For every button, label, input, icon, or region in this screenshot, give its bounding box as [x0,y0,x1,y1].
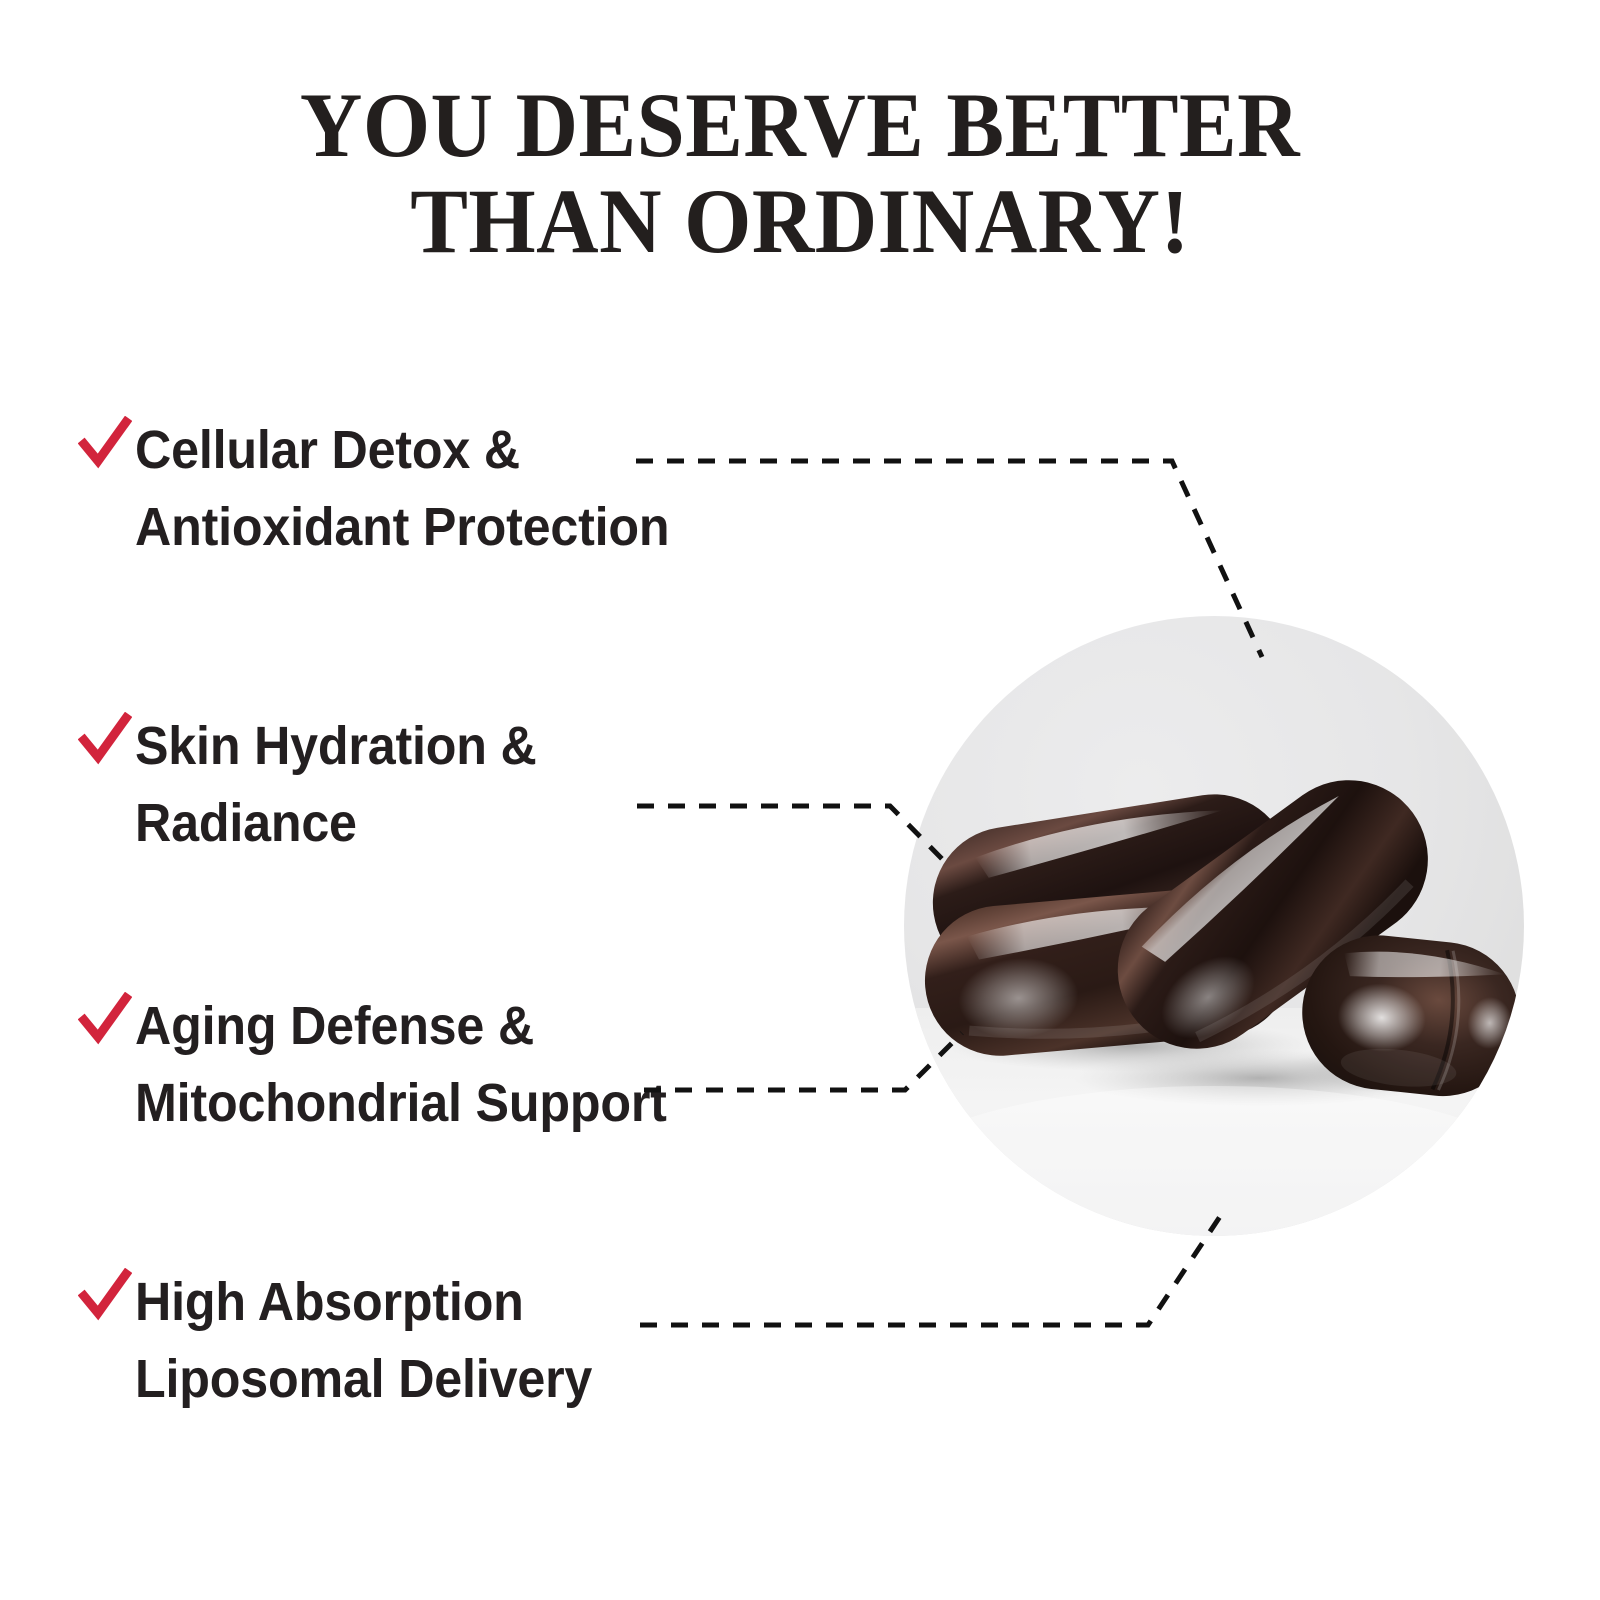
check-icon [78,712,132,768]
check-icon [78,416,132,472]
benefit-item-4-line-1: High Absorption [135,1272,524,1332]
check-icon [78,1268,132,1324]
page-title: YOU DESERVE BETTER THAN ORDINARY! [48,78,1552,269]
benefit-item-3: Aging Defense & Mitochondrial Support [78,988,878,1141]
benefit-item-1: Cellular Detox & Antioxidant Protection [78,412,878,565]
benefit-item-1-text: Cellular Detox & Antioxidant Protection [135,412,826,565]
product-image-circle [904,616,1524,1236]
page-title-line-2: THAN ORDINARY! [48,174,1552,270]
benefit-item-2-line-1: Skin Hydration & [135,716,537,776]
benefit-item-1-line-1: Cellular Detox & [135,420,520,480]
benefit-item-4-line-2: Liposomal Delivery [135,1341,826,1418]
benefit-item-3-text: Aging Defense & Mitochondrial Support [135,988,826,1141]
benefit-item-2: Skin Hydration & Radiance [78,708,878,861]
benefit-item-4: High Absorption Liposomal Delivery [78,1264,878,1417]
benefit-item-4-text: High Absorption Liposomal Delivery [135,1264,826,1417]
benefit-item-2-line-2: Radiance [135,785,826,862]
benefit-item-2-text: Skin Hydration & Radiance [135,708,826,861]
page-title-line-1: YOU DESERVE BETTER [48,78,1552,174]
benefit-item-1-line-2: Antioxidant Protection [135,489,826,566]
benefit-item-3-line-2: Mitochondrial Support [135,1065,826,1142]
check-icon [78,992,132,1048]
capsules-illustration [904,616,1524,1236]
benefit-item-3-line-1: Aging Defense & [135,996,534,1056]
infographic-page: YOU DESERVE BETTER THAN ORDINARY! [0,0,1600,1600]
